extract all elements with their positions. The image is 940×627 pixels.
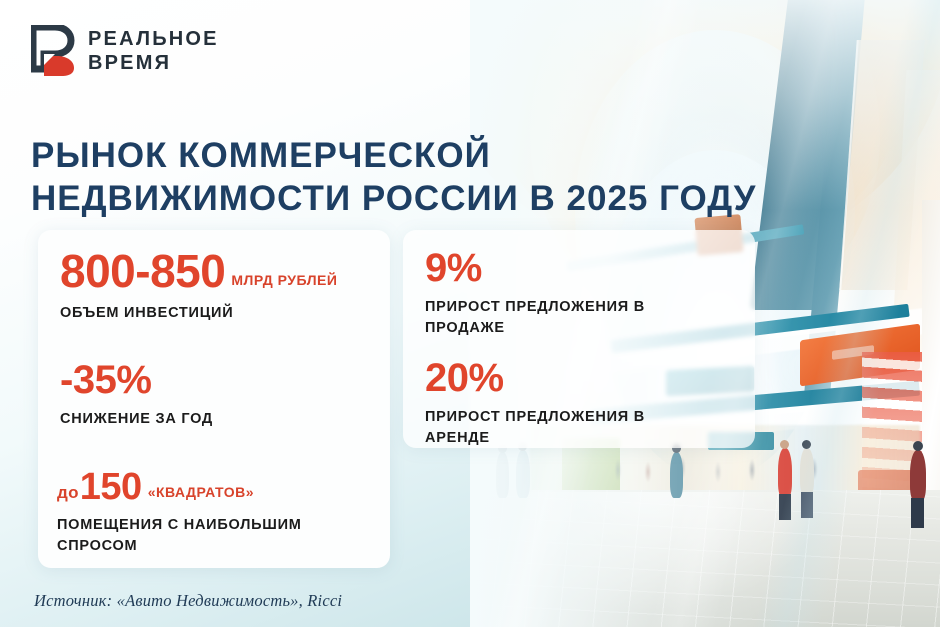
- stat-prefix: до: [57, 483, 79, 502]
- stat-label: ПОМЕЩЕНИЯ С НАИБОЛЬШИМ СПРОСОМ: [57, 515, 357, 556]
- stat-label: ОБЪЕМ ИНВЕСТИЦИЙ: [60, 303, 337, 324]
- stat-yearly-decline: -35% СНИЖЕНИЕ ЗА ГОД: [60, 360, 213, 430]
- stat-value-row: 800-850МЛРД РУБЛЕЙ: [60, 248, 337, 294]
- page-title: РЫНОК КОММЕРЧЕСКОЙ НЕДВИЖИМОСТИ РОССИИ В…: [31, 135, 771, 220]
- realnoe-vremya-logo-icon: [31, 25, 77, 77]
- stat-value-row: до150«КВАДРАТОВ»: [57, 468, 357, 506]
- stat-supply-growth-rent: 20% ПРИРОСТ ПРЕДЛОЖЕНИЯ В АРЕНДЕ: [425, 358, 670, 448]
- stat-supply-growth-sale: 9% ПРИРОСТ ПРЕДЛОЖЕНИЯ В ПРОДАЖЕ: [425, 248, 670, 338]
- stat-value-row: -35%: [60, 360, 213, 400]
- stat-value-row: 20%: [425, 358, 670, 398]
- stat-most-demanded-area: до150«КВАДРАТОВ» ПОМЕЩЕНИЯ С НАИБОЛЬШИМ …: [57, 468, 357, 556]
- stat-value: 9%: [425, 246, 482, 290]
- stat-value: 150: [80, 466, 142, 508]
- source-attribution: Источник: «Авито Недвижимость», Ricci: [34, 591, 342, 611]
- brand-name-line2: ВРЕМЯ: [88, 53, 219, 73]
- stat-label: ПРИРОСТ ПРЕДЛОЖЕНИЯ В ПРОДАЖЕ: [425, 297, 670, 338]
- brand-wordmark: РЕАЛЬНОЕ ВРЕМЯ: [88, 29, 219, 73]
- title-line-1: РЫНОК КОММЕРЧЕСКОЙ: [31, 135, 771, 178]
- infographic-canvas: РЕАЛЬНОЕ ВРЕМЯ РЫНОК КОММЕРЧЕСКОЙ НЕДВИЖ…: [0, 0, 940, 627]
- stat-value: -35%: [60, 358, 151, 402]
- stat-unit: «КВАДРАТОВ»: [148, 484, 254, 500]
- stat-value: 800-850: [60, 245, 225, 297]
- brand-name-line1: РЕАЛЬНОЕ: [88, 29, 219, 49]
- stat-label: ПРИРОСТ ПРЕДЛОЖЕНИЯ В АРЕНДЕ: [425, 407, 670, 448]
- stat-investment-volume: 800-850МЛРД РУБЛЕЙ ОБЪЕМ ИНВЕСТИЦИЙ: [60, 248, 337, 324]
- title-line-2: НЕДВИЖИМОСТИ РОССИИ В 2025 ГОДУ: [31, 178, 771, 221]
- stat-unit: МЛРД РУБЛЕЙ: [231, 272, 337, 288]
- stat-value: 20%: [425, 356, 504, 400]
- brand-logo[interactable]: РЕАЛЬНОЕ ВРЕМЯ: [31, 25, 219, 77]
- stat-label: СНИЖЕНИЕ ЗА ГОД: [60, 409, 213, 430]
- stat-value-row: 9%: [425, 248, 670, 288]
